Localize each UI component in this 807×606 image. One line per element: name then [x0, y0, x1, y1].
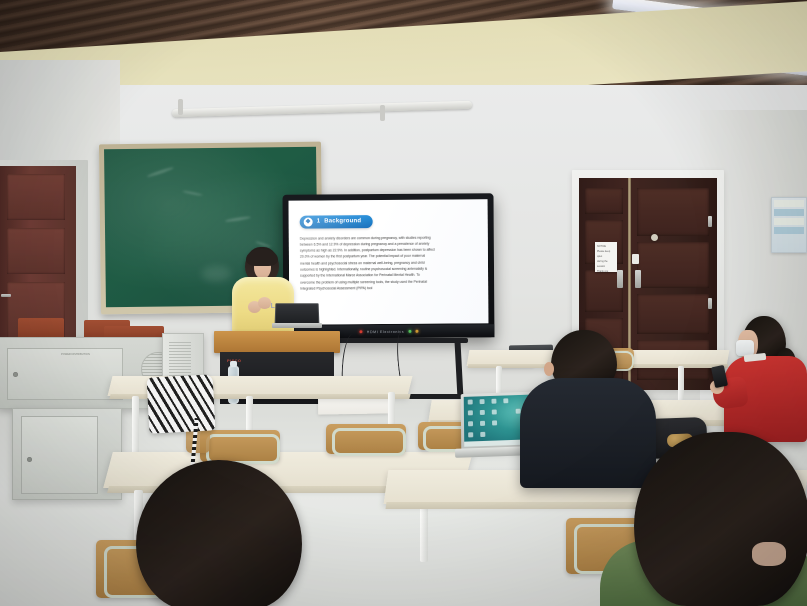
wall-board-row — [774, 227, 804, 234]
lectern-top-surface — [214, 331, 340, 353]
cabinet-label: POWER DISTRIBUTION — [61, 352, 90, 357]
slide-badge-title: Background — [324, 218, 361, 224]
presenter-laptop-lid — [275, 303, 320, 324]
chair-wooden-2[interactable] — [326, 424, 406, 454]
classroom-scene: ◆ 1 Background Depression and anxiety di… — [0, 0, 807, 606]
presenter-hair-fringe — [246, 249, 278, 266]
left-door-handle[interactable] — [1, 294, 11, 297]
chair-frame — [332, 428, 406, 456]
left-door-panel-1 — [7, 174, 65, 220]
presenter-hand-right — [258, 297, 271, 309]
wall-board-row — [774, 200, 804, 207]
door-peephole — [651, 234, 658, 241]
cabinet-lock-lower[interactable] — [27, 457, 32, 462]
stand-crossbar — [318, 338, 468, 343]
presenter-laptop-base — [272, 323, 322, 328]
stand-leg-right — [454, 341, 463, 399]
door-hinge-lower — [708, 298, 712, 309]
student-navy-ear — [544, 362, 554, 376]
presenter-laptop[interactable] — [272, 303, 320, 329]
power-led-red — [360, 330, 363, 333]
wall-board-row — [774, 209, 804, 216]
door-latch-plate — [632, 254, 639, 264]
door-panel-l1 — [585, 188, 623, 214]
door-handle-right[interactable] — [635, 270, 641, 288]
left-door-panel-2 — [7, 228, 65, 274]
status-led-green — [408, 330, 411, 333]
cabinet-lock-upper[interactable] — [13, 372, 18, 377]
table-leg — [678, 366, 684, 404]
bottle-cap — [230, 361, 237, 367]
notice-line: Please keep quiet — [597, 249, 615, 259]
door-panel-r3 — [637, 294, 709, 334]
door-panel-r1 — [637, 188, 709, 236]
door-hinge — [708, 216, 712, 227]
door-handle-left[interactable] — [617, 270, 623, 288]
cabinet-door-lower[interactable] — [21, 416, 98, 494]
notice-line: during the session — [597, 259, 615, 269]
student-green-neck — [752, 542, 786, 566]
posted-notice: NOTICE Please keep quiet during the sess… — [595, 242, 617, 272]
roller-bracket-right — [380, 105, 385, 121]
zebra-print-bag[interactable] — [147, 374, 216, 433]
student-navy-center-body — [520, 378, 656, 488]
chair-wooden-1[interactable] — [200, 430, 280, 462]
door-panel-r2 — [637, 242, 709, 288]
notice-line: Thank you — [597, 269, 615, 272]
wall-board-row — [774, 218, 804, 225]
slide-body-text: Depression and anxiety disorders are com… — [300, 234, 479, 292]
slide-line: Integrated Psychosocial Assessment (PIPA… — [300, 284, 479, 292]
status-led-amber — [415, 330, 418, 333]
slide-title-badge: ◆ 1 Background — [300, 215, 373, 229]
slide-badge-number: 1 — [317, 218, 321, 224]
slide-badge-icon: ◆ — [304, 217, 313, 226]
roller-bracket-left — [178, 99, 183, 115]
student-green-foreground-right — [634, 432, 807, 606]
wall-information-board — [771, 197, 807, 253]
